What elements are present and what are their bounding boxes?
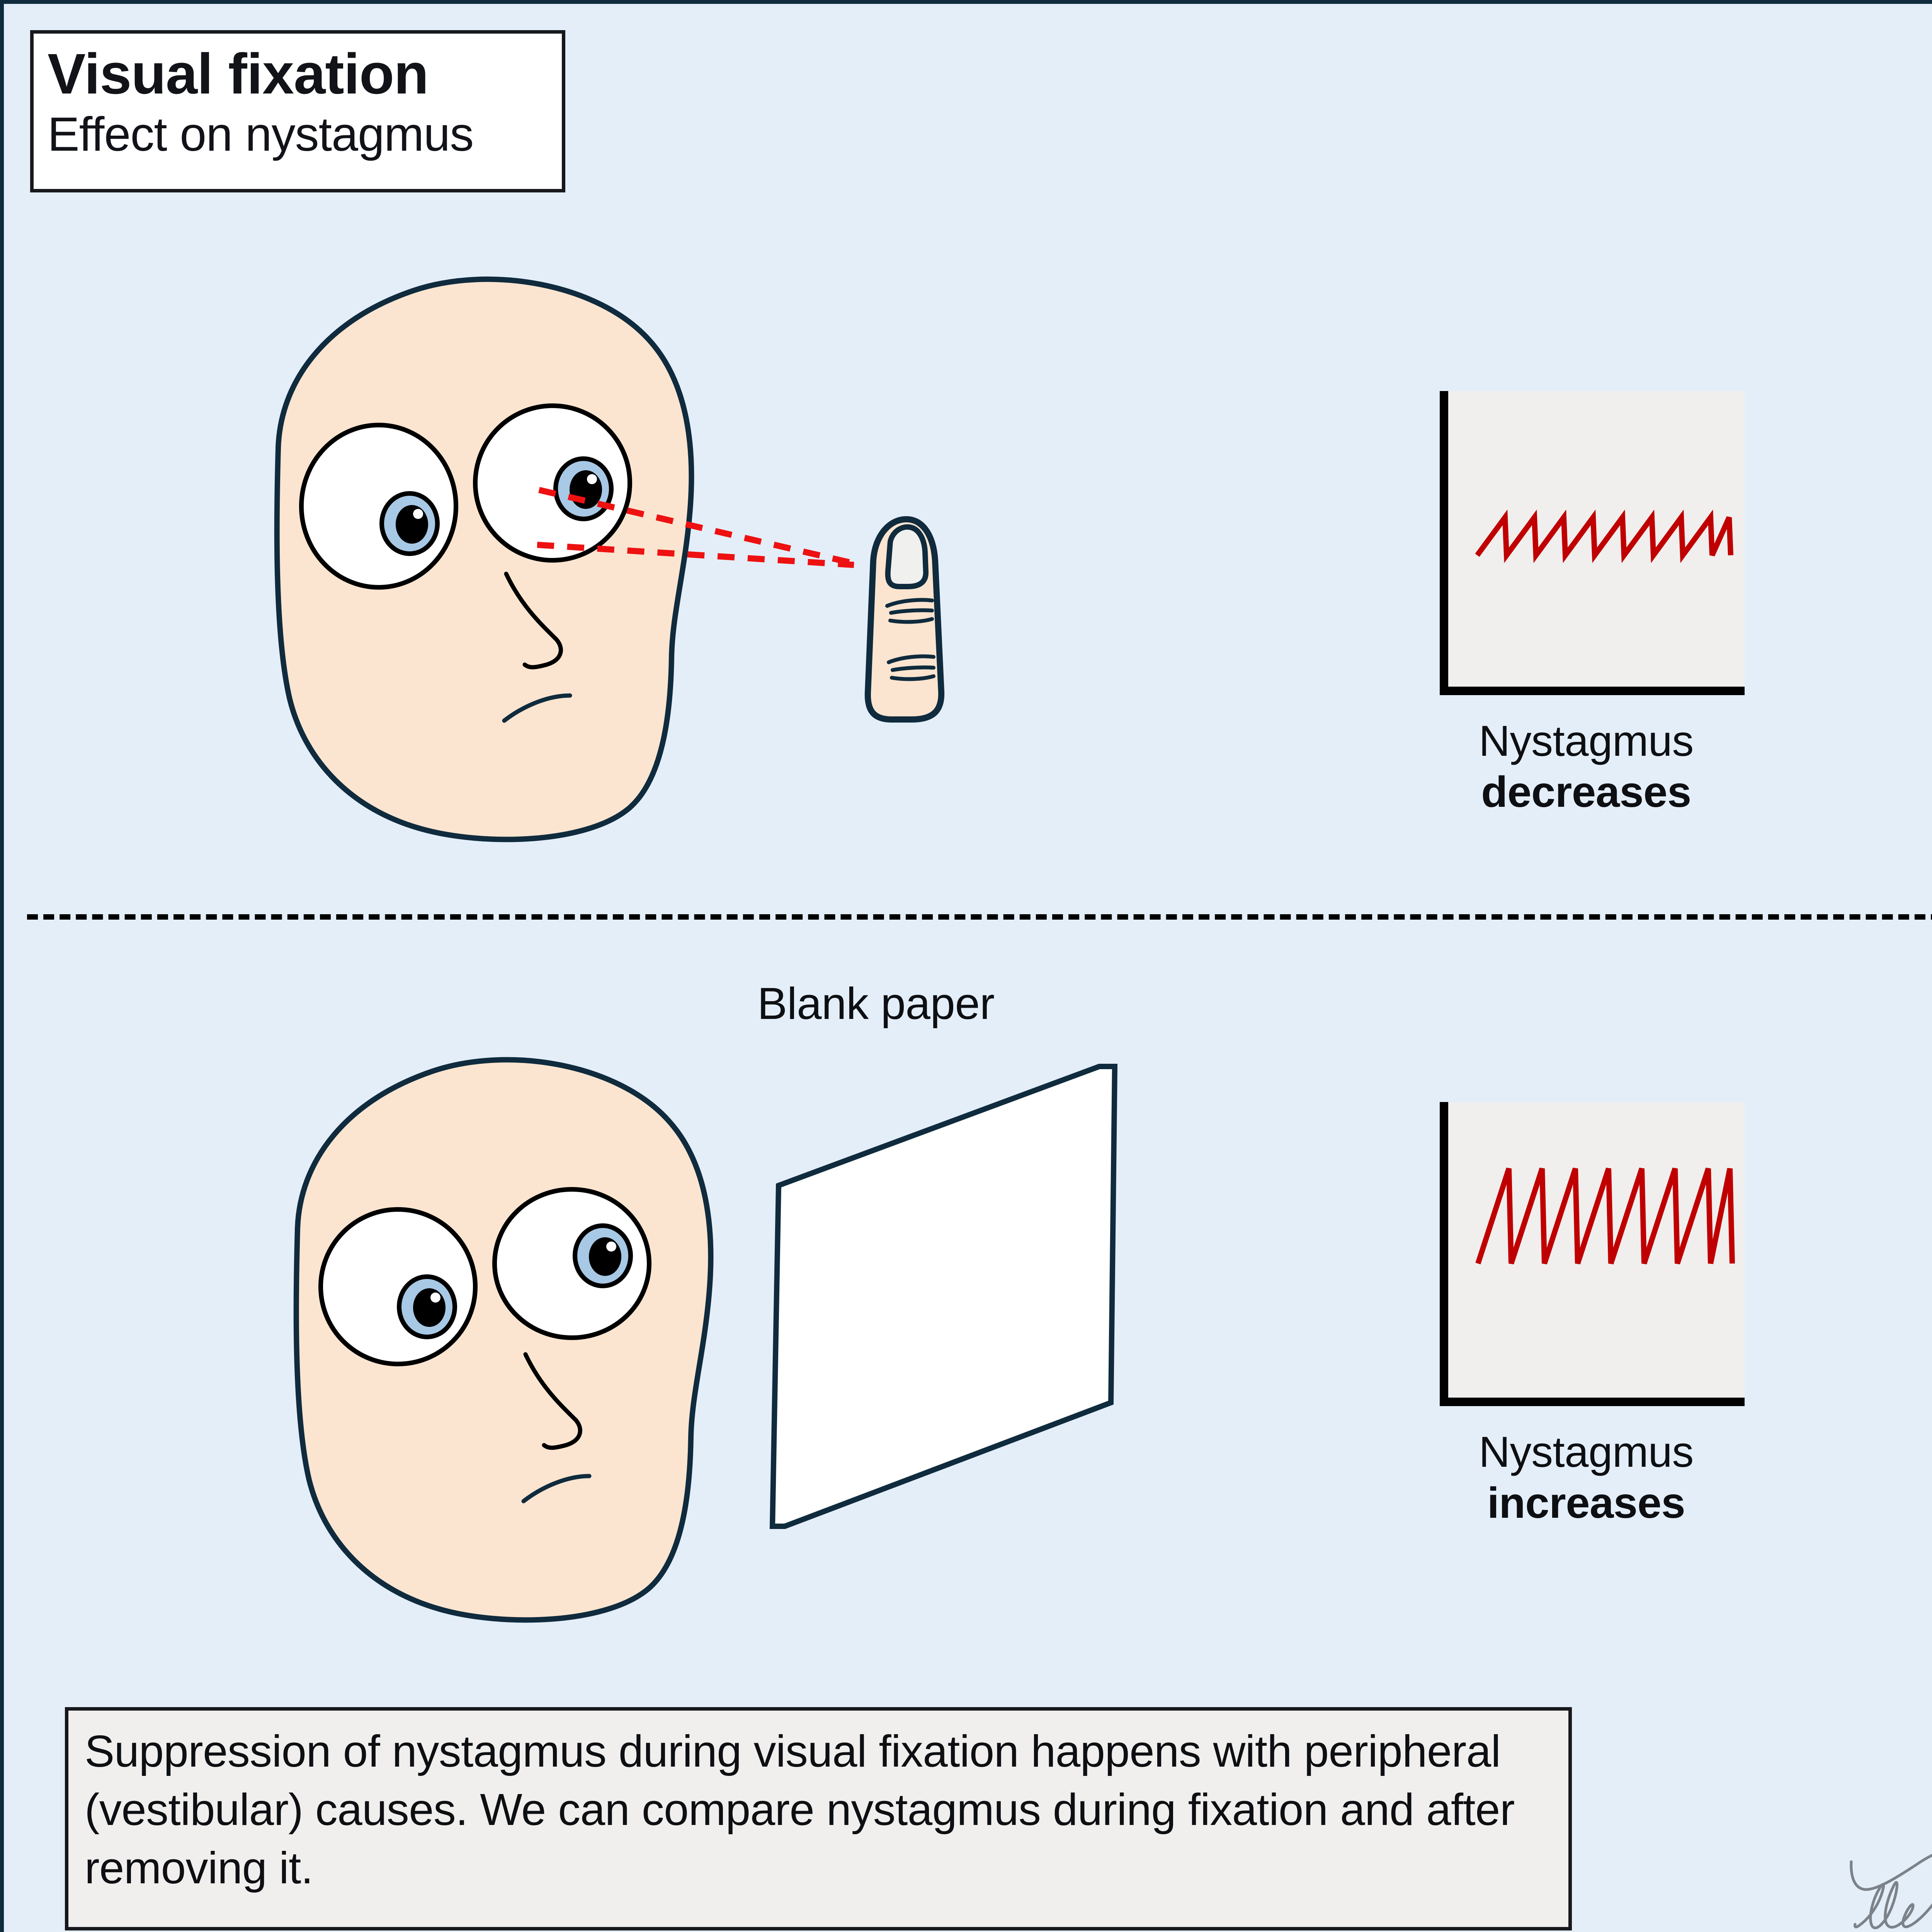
fingernail [888, 527, 926, 587]
illustration-canvas: Visual fixation Effect on nystagmus [0, 0, 1932, 1932]
page-title: Visual fixation [48, 44, 548, 104]
face-without-fixation [216, 1047, 726, 1634]
chart-caption-increases: Nystagmus increases [1389, 1427, 1783, 1529]
eye-left-pupil [396, 505, 428, 544]
panel-divider [27, 914, 1932, 920]
caption-text: Suppression of nystagmus during visual f… [85, 1722, 1552, 1897]
chart-plot-decreases [1435, 391, 1745, 696]
chart-caption-line2: decreases [1389, 767, 1783, 818]
chart-caption-line1: Nystagmus [1389, 1427, 1783, 1478]
eye-left-pupil [413, 1288, 446, 1327]
eye-left-highlight [413, 509, 423, 519]
signature-mark [1837, 1816, 1932, 1932]
blank-paper-label: Blank paper [757, 978, 1105, 1029]
chart-nystagmus-increases: Nystagmus increases [1435, 1102, 1745, 1407]
paper-sheet [772, 1066, 1115, 1526]
blank-paper [759, 1063, 1119, 1530]
eye-right-highlight [606, 1242, 616, 1252]
plot-area [1441, 1102, 1745, 1402]
chart-plot-increases [1435, 1102, 1745, 1407]
chart-caption-line1: Nystagmus [1389, 716, 1783, 767]
page-subtitle: Effect on nystagmus [48, 108, 548, 162]
chart-nystagmus-decreases: Nystagmus decreases [1435, 391, 1745, 696]
chart-caption-decreases: Nystagmus decreases [1389, 716, 1783, 818]
eye-left-sclera [321, 1209, 475, 1364]
title-box: Visual fixation Effect on nystagmus [30, 30, 565, 192]
eye-right-pupil [589, 1237, 621, 1276]
chart-caption-line2: increases [1389, 1478, 1783, 1529]
gaze-lines [537, 460, 877, 591]
finger-icon [850, 506, 958, 723]
eye-left-highlight [430, 1293, 440, 1303]
caption-box: Suppression of nystagmus during visual f… [65, 1707, 1572, 1930]
